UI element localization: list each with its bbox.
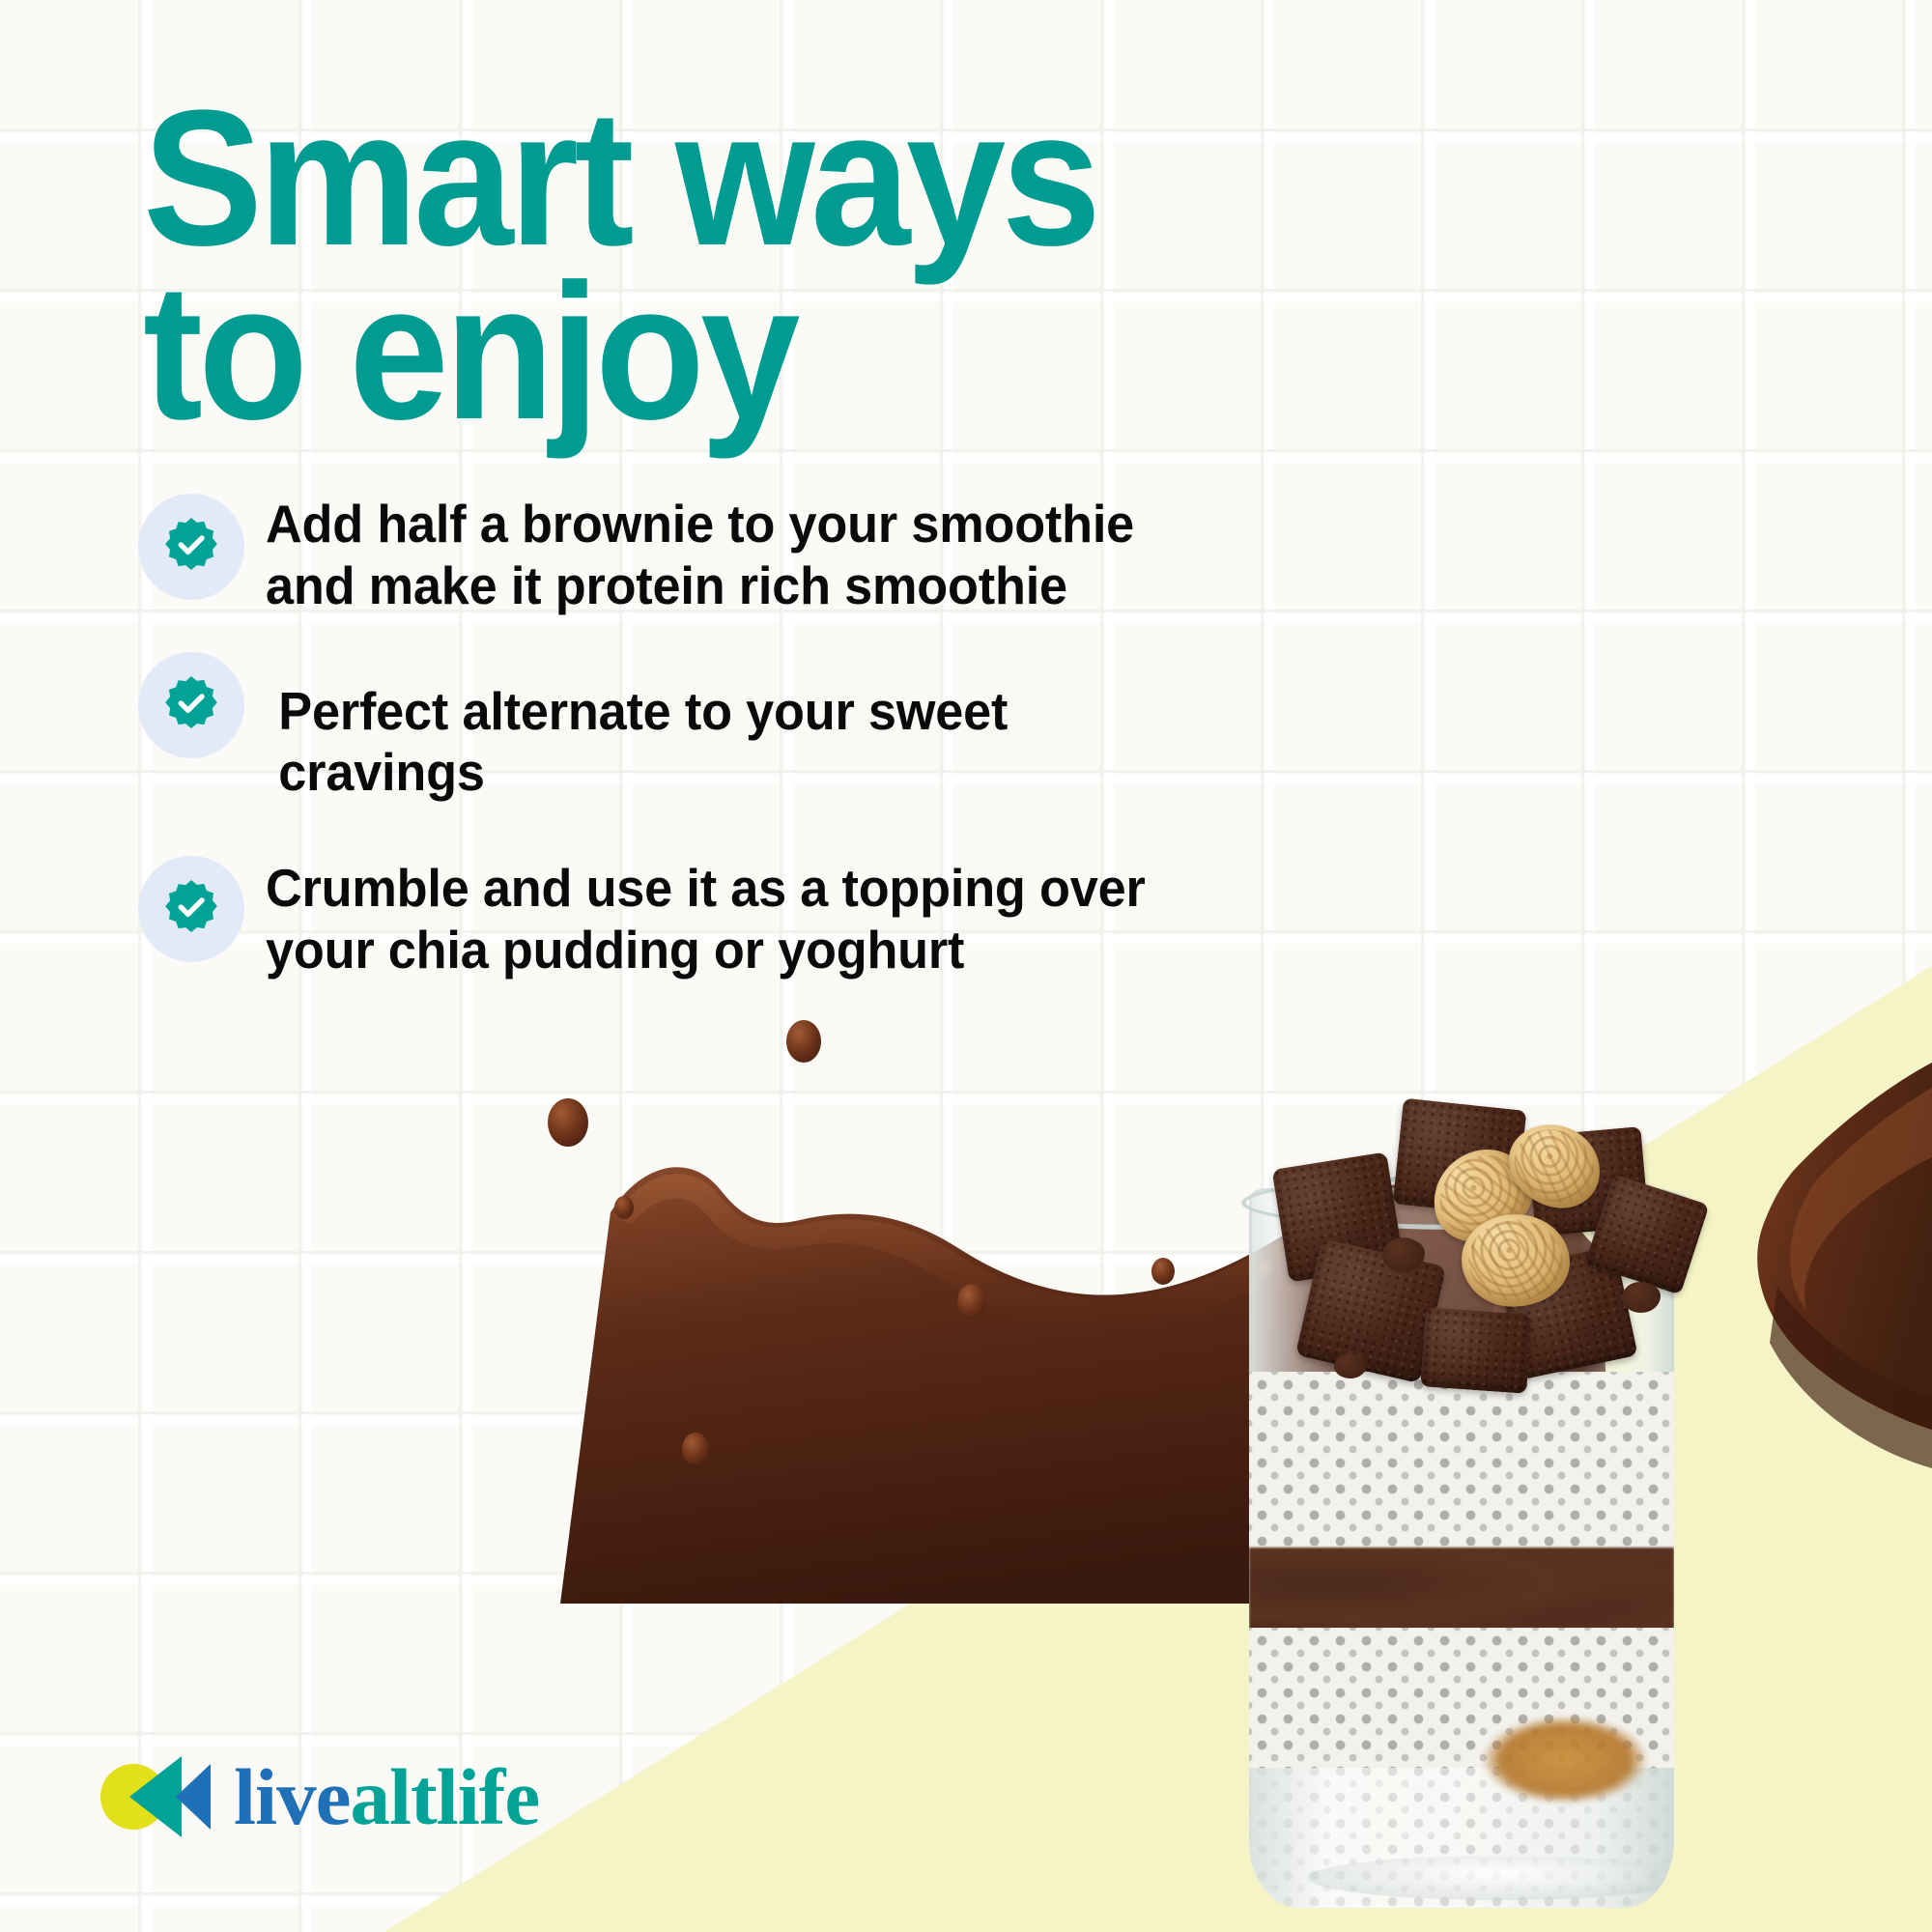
verified-check-badge-icon xyxy=(138,494,244,600)
glass-base-highlight xyxy=(1307,1856,1674,1900)
wordmark-altlife: altlife xyxy=(350,1752,539,1841)
chia-pudding-glass xyxy=(1212,1067,1715,1913)
brand-logo[interactable]: livealtlife xyxy=(97,1750,539,1843)
topping-cluster xyxy=(1212,1067,1715,1386)
verified-check-badge-icon xyxy=(138,652,244,758)
cocoa-crumb-layer xyxy=(1249,1548,1674,1636)
page-title: Smart ways to enjoy xyxy=(143,92,1350,440)
brownie-crumb xyxy=(1622,1282,1661,1313)
list-item-label: Perfect alternate to your sweet cravings xyxy=(266,652,1181,805)
chia-layer-upper xyxy=(1249,1372,1674,1550)
livealtlife-arrow-mark-icon xyxy=(97,1750,213,1843)
list-item-label: Crumble and use it as a topping over you… xyxy=(266,850,1181,981)
brand-wordmark: livealtlife xyxy=(234,1757,539,1837)
brownie-chunk xyxy=(1420,1307,1531,1393)
poster-canvas: Smart ways to enjoy Add half a brownie t… xyxy=(0,0,1932,1932)
list-item: Crumble and use it as a topping over you… xyxy=(138,850,1230,981)
benefits-list: Add half a brownie to your smoothie and … xyxy=(138,486,1230,1016)
list-item: Perfect alternate to your sweet cravings xyxy=(138,652,1230,805)
list-item-label: Add half a brownie to your smoothie and … xyxy=(266,486,1181,617)
list-item: Add half a brownie to your smoothie and … xyxy=(138,486,1230,617)
wordmark-live: live xyxy=(234,1752,350,1841)
caramel-swirl xyxy=(1483,1717,1647,1804)
title-line-2: to enjoy xyxy=(143,266,1266,440)
brownie-crumb xyxy=(1334,1353,1367,1378)
title-line-1: Smart ways xyxy=(143,92,1266,266)
verified-check-badge-icon xyxy=(138,856,244,962)
